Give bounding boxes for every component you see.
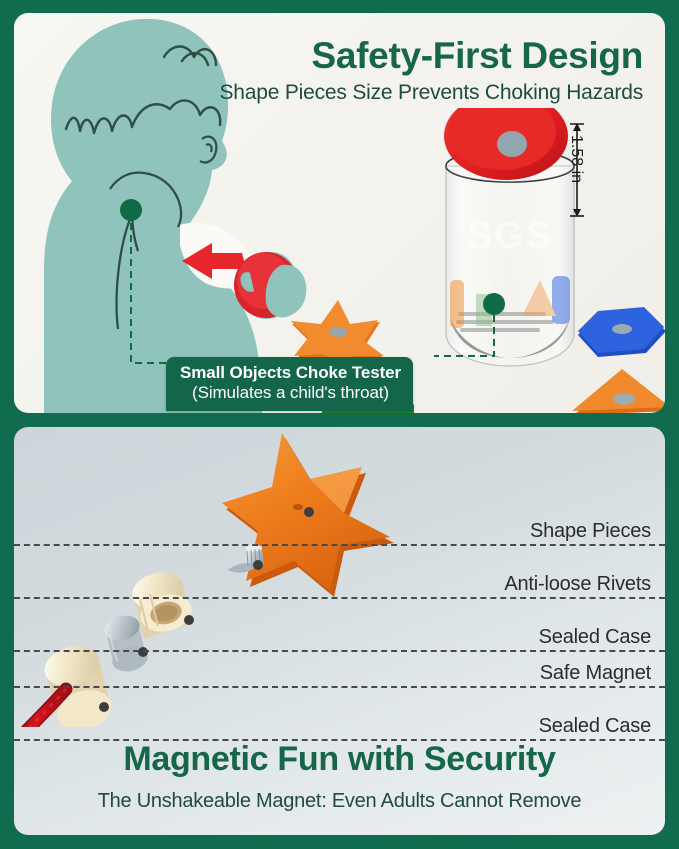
top-panel-title: Safety-First Design: [312, 35, 644, 77]
callout-leader-line: [14, 650, 665, 652]
callout-label: Sealed Case: [539, 715, 651, 738]
choke-tester-badge-line1: Small Objects Choke Tester: [180, 363, 401, 383]
choke-tester-badge: Small Objects Choke Tester (Simulates a …: [166, 357, 413, 411]
cylinder-wall: [446, 166, 574, 366]
callout-row: Sealed Case: [14, 707, 665, 741]
throat-marker-dot: [120, 199, 142, 221]
callout-label: Shape Pieces: [530, 520, 651, 543]
bottom-panel-title: Magnetic Fun with Security: [14, 740, 665, 779]
callout-row: Safe Magnet: [14, 654, 665, 688]
tester-marker-dot: [483, 293, 505, 315]
safety-first-panel: SGS: [14, 13, 665, 413]
callout-leader-line: [14, 686, 665, 688]
callout-leader-line: [14, 597, 665, 599]
dimension-value-label: 1.58 in: [567, 135, 585, 205]
bottom-panel-subtitle: The Unshakeable Magnet: Even Adults Cann…: [14, 790, 665, 813]
choke-tester-badge-line2: (Simulates a child's throat): [180, 383, 401, 403]
callout-label: Sealed Case: [539, 626, 651, 649]
sgs-brand-mark: SGS: [467, 215, 553, 257]
callout-row: Anti-loose Rivets: [14, 565, 665, 599]
child-silhouette-illustration: [14, 13, 314, 413]
callout-label: Safe Magnet: [540, 662, 651, 685]
child-silhouette-svg: [14, 13, 314, 413]
callout-label: Anti-loose Rivets: [504, 573, 651, 596]
callout-row: Sealed Case: [14, 618, 665, 652]
top-panel-subtitle: Shape Pieces Size Prevents Choking Hazar…: [220, 81, 644, 105]
callout-leader-line: [14, 544, 665, 546]
magnetic-fun-panel: Shape PiecesAnti-loose RivetsSealed Case…: [14, 427, 665, 835]
infographic-root: SGS: [0, 0, 679, 849]
callout-row: Shape Pieces: [14, 512, 665, 546]
dimension-annotation: 1.58 in: [567, 121, 615, 219]
